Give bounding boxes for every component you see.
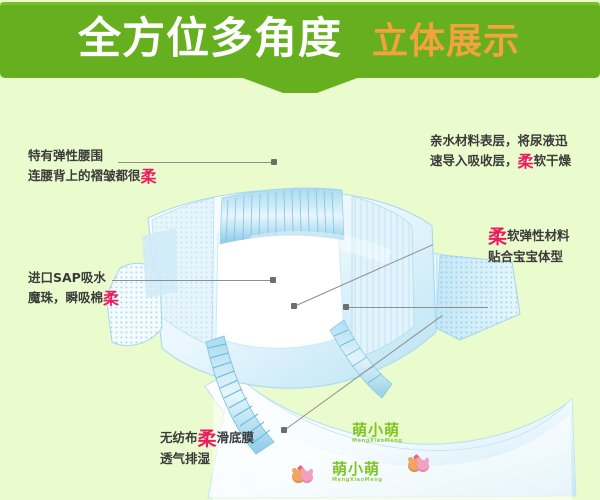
annotation-waist: 特有弹性腰围 连腰背上的褶皱都很柔 <box>28 146 157 187</box>
annotation-topsheet-line1: 亲水材料表层，将尿液迅 <box>430 131 571 151</box>
annotation-waist-line2: 连腰背上的褶皱都很柔 <box>28 166 157 187</box>
brand-logo-primary: 萌小萌 MengXiaoMeng <box>352 423 403 445</box>
pig-icon <box>417 460 429 472</box>
page-subtitle: 立体展示 <box>372 20 520 64</box>
leader-dot-waist <box>271 159 277 165</box>
header-highlight-strip <box>0 2 600 5</box>
annotation-elastic-line1: 柔软弹性材料 <box>488 226 570 247</box>
annotation-backsheet-line1: 无纺布柔滑底膜 <box>160 428 254 449</box>
leader-line-sap <box>112 280 272 281</box>
brand-logo-secondary: 萌小萌 MengXiaoMeng <box>332 462 383 484</box>
leader-dot-backsheet <box>281 427 287 433</box>
page-header: 全方位多角度 立体展示 <box>0 0 600 86</box>
leader-dot-topsheet <box>291 303 297 309</box>
mascot-bear-pig-icon <box>292 469 314 484</box>
annotation-topsheet-line2: 速导入吸收层，柔软干燥 <box>430 151 571 172</box>
annotation-elastic-line2: 贴合宝宝体型 <box>488 247 570 267</box>
annotation-topsheet: 亲水材料表层，将尿液迅 速导入吸收层，柔软干燥 <box>430 131 571 172</box>
product-showcase-page: 全方位多角度 立体展示 <box>0 0 600 500</box>
annotation-waist-line1: 特有弹性腰围 <box>28 146 157 166</box>
mascot-bear-pig-icon <box>408 458 430 473</box>
leader-dot-elastic <box>343 304 349 310</box>
annotation-sap: 进口SAP吸水 魔珠，瞬吸棉柔 <box>28 268 119 309</box>
annotation-elastic: 柔软弹性材料 贴合宝宝体型 <box>488 226 570 267</box>
leader-line-elastic <box>346 307 488 308</box>
pig-icon <box>301 471 313 483</box>
diaper-front-panel <box>148 188 436 388</box>
annotation-backsheet: 无纺布柔滑底膜 透气排湿 <box>160 428 254 469</box>
brand-logo-pinyin: MengXiaoMeng <box>352 438 403 445</box>
annotation-backsheet-line2: 透气排湿 <box>160 449 254 469</box>
brand-logo-pinyin: MengXiaoMeng <box>332 477 383 484</box>
leader-dot-sap <box>270 277 276 283</box>
annotation-sap-line1: 进口SAP吸水 <box>28 268 119 288</box>
annotation-sap-line2: 魔珠，瞬吸棉柔 <box>28 288 119 309</box>
brand-logo-zh: 萌小萌 <box>352 423 403 438</box>
page-title: 全方位多角度 <box>78 13 342 65</box>
brand-logo-zh: 萌小萌 <box>332 462 383 477</box>
